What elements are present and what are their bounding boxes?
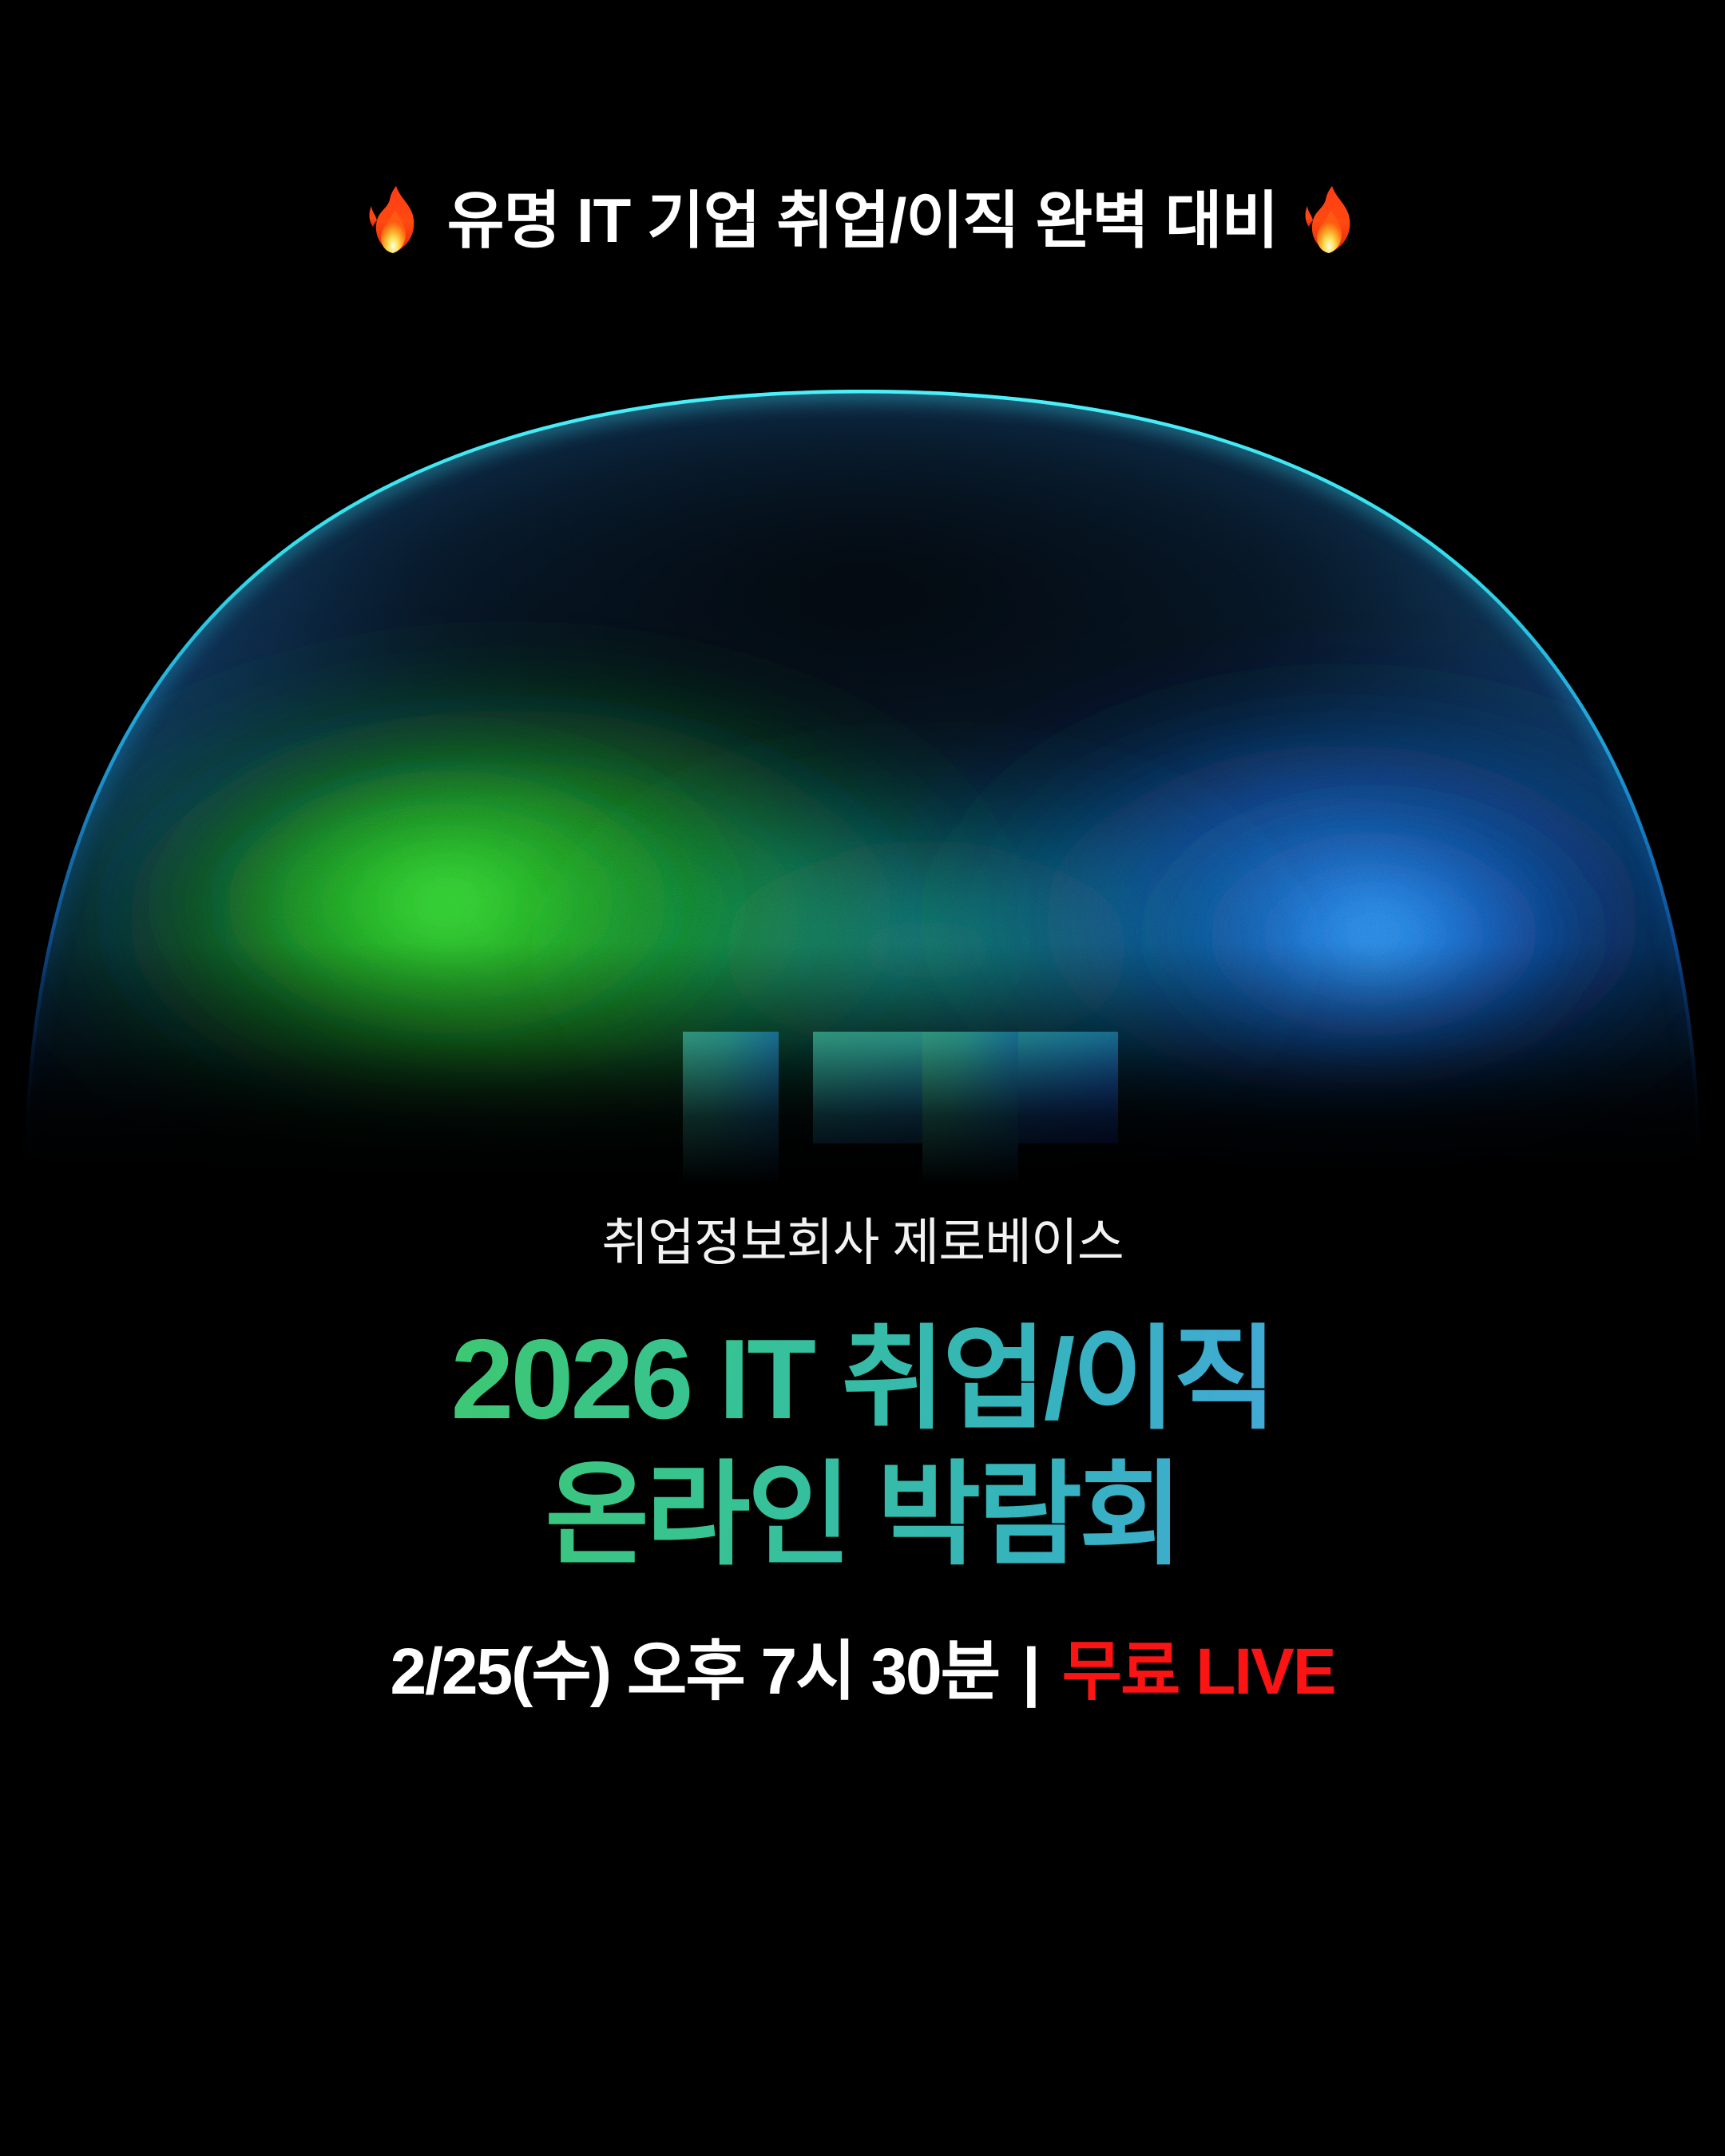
free-live-badge: 무료 LIVE [1062,1635,1335,1708]
event-date: 2/25(수) 오후 7시 30분 [390,1635,999,1708]
eyebrow-text: 유명 IT 기업 취업/이직 완벽 대비 [447,189,1278,252]
fire-emoji-right [1302,184,1359,257]
meta-separator: | [1016,1635,1045,1708]
eyebrow-banner: 유명 IT 기업 취업/이직 완벽 대비 [0,157,1725,284]
fire-emoji-left [366,184,423,257]
headline-line-1: 2026 IT 취업/이직 [0,1314,1725,1446]
hero-dome-artwork [0,343,1725,1190]
promo-poster: 유명 IT 기업 취업/이직 완벽 대비 [0,0,1725,2156]
kicker-text: 취업정보회사 제로베이스 [0,1214,1725,1273]
copy-block: 취업정보회사 제로베이스 2026 IT 취업/이직 온라인 박람회 2/25(… [0,1214,1725,1708]
headline-line-2: 온라인 박람회 [0,1450,1725,1582]
event-meta: 2/25(수) 오후 7시 30분 | 무료 LIVE [0,1636,1725,1708]
